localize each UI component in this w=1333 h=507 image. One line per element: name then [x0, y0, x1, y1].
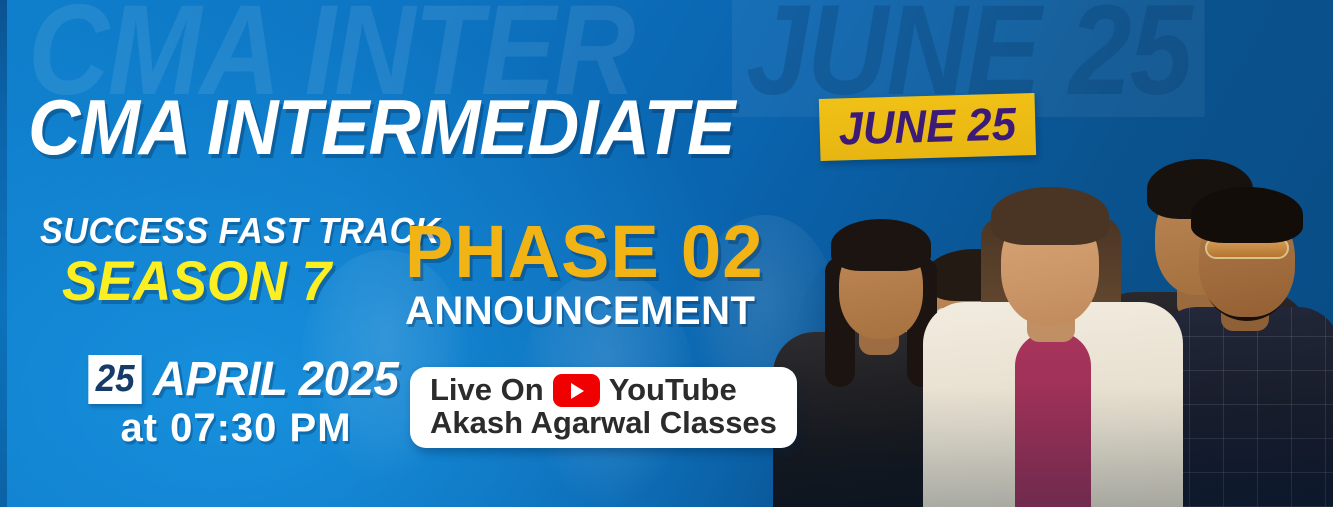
date-line: 25 APRIL 2025	[86, 355, 412, 404]
program-season: SEASON 7	[62, 253, 441, 309]
hair	[831, 219, 931, 271]
month-year: APRIL 2025	[153, 356, 398, 404]
phase-title: PHASE 02	[405, 216, 764, 289]
top-garment	[1015, 332, 1091, 507]
announcement-label: ANNOUNCEMENT	[405, 291, 771, 331]
channel-name: Akash Agarwal Classes	[430, 406, 777, 439]
hair	[991, 187, 1109, 245]
page-title: CMA INTERMEDIATE	[28, 88, 734, 166]
youtube-play-icon[interactable]	[553, 374, 600, 407]
phase-block: PHASE 02 ANNOUNCEMENT	[405, 216, 771, 331]
headline-row: CMA INTERMEDIATE JUNE 25	[28, 88, 1040, 166]
faculty-photo-group	[773, 107, 1333, 507]
day-badge: 25	[88, 355, 142, 404]
live-on-youtube-pill[interactable]: Live On YouTube Akash Agarwal Classes	[410, 367, 797, 448]
program-block: SUCCESS FAST TRACK SEASON 7	[40, 212, 461, 309]
june-session-badge: JUNE 25	[818, 93, 1035, 161]
event-time: at 07:30 PM	[86, 407, 386, 449]
schedule-block: 25 APRIL 2025 at 07:30 PM	[86, 355, 412, 449]
promo-banner: CMA INTER JUNE 25	[0, 0, 1333, 507]
program-subtitle: SUCCESS FAST TRACK	[40, 212, 440, 249]
hair	[1191, 187, 1303, 243]
left-edge-accent	[0, 0, 7, 507]
faculty-person-center	[923, 177, 1183, 507]
play-triangle	[571, 383, 584, 399]
platform-label: YouTube	[609, 374, 737, 407]
live-on-row: Live On YouTube	[430, 374, 777, 407]
live-on-label: Live On	[430, 374, 544, 407]
